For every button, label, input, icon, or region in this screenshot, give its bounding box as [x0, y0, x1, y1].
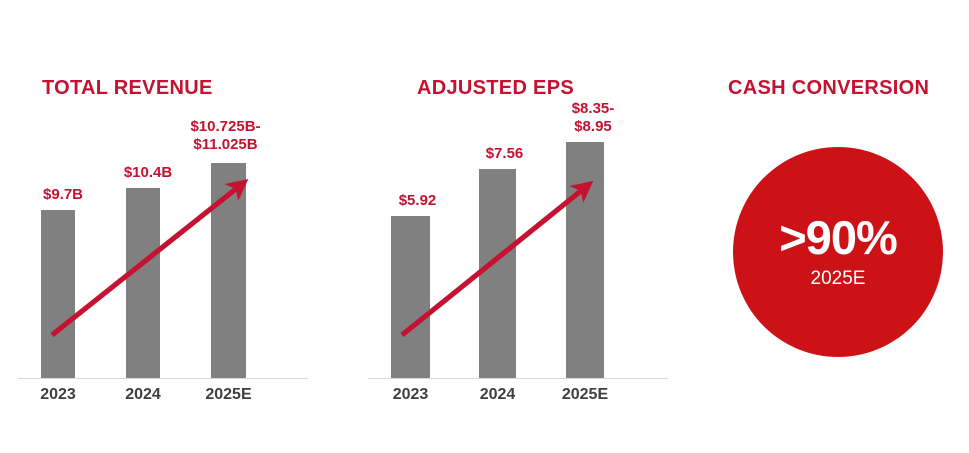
cash-conversion-period: 2025E: [811, 267, 866, 291]
bar-value-line: $9.7B: [16, 186, 110, 204]
bar: [41, 210, 75, 378]
cash-conversion-circle: >90% 2025E: [733, 147, 943, 357]
chart-baseline: [18, 378, 308, 379]
bar: [566, 142, 604, 378]
bar-chart-adjusted-eps: $5.92$7.56$8.35-$8.95 202320242025E: [340, 0, 685, 453]
bar-value-line: $11.025B: [178, 136, 273, 154]
axis-tick-label: 2024: [104, 386, 182, 404]
bar-value-line: $8.95: [544, 118, 642, 136]
panel-adjusted-eps: ADJUSTED EPS $5.92$7.56$8.35-$8.95 20232…: [340, 0, 685, 453]
bar-value-line: $8.35-: [544, 100, 642, 118]
panel-title-cash-conversion: CASH CONVERSION: [728, 76, 929, 100]
bar-value-line: $10.4B: [101, 164, 195, 182]
bar: [391, 216, 430, 378]
chart-baseline: [368, 378, 668, 379]
bar-value-line: $7.56: [456, 145, 553, 163]
panel-total-revenue: TOTAL REVENUE $9.7B$10.4B$10.725B-$11.02…: [0, 0, 340, 453]
bar-value-label: $9.7B: [16, 186, 110, 204]
axis-tick-label: 2025E: [189, 386, 268, 404]
bar-value-label: $10.4B: [101, 164, 195, 182]
axis-tick-label: 2023: [19, 386, 97, 404]
cash-conversion-value: >90%: [779, 213, 897, 263]
axis-tick-label: 2024: [457, 386, 538, 404]
bar-value-label: $10.725B-$11.025B: [178, 118, 273, 154]
bar-value-label: $7.56: [456, 145, 553, 163]
bar-chart-total-revenue: $9.7B$10.4B$10.725B-$11.025B 20232024202…: [0, 0, 340, 453]
axis-tick-label: 2023: [369, 386, 452, 404]
bar-value-label: $8.35-$8.95: [544, 100, 642, 136]
slide-canvas: TOTAL REVENUE $9.7B$10.4B$10.725B-$11.02…: [0, 0, 969, 453]
bar-value-label: $5.92: [368, 192, 467, 210]
bar: [211, 163, 246, 378]
bar-value-line: $10.725B-: [178, 118, 273, 136]
bar-value-line: $5.92: [368, 192, 467, 210]
bar: [126, 188, 160, 378]
bar: [479, 169, 516, 378]
axis-tick-label: 2025E: [544, 386, 626, 404]
panel-cash-conversion: CASH CONVERSION >90% 2025E: [685, 0, 969, 453]
